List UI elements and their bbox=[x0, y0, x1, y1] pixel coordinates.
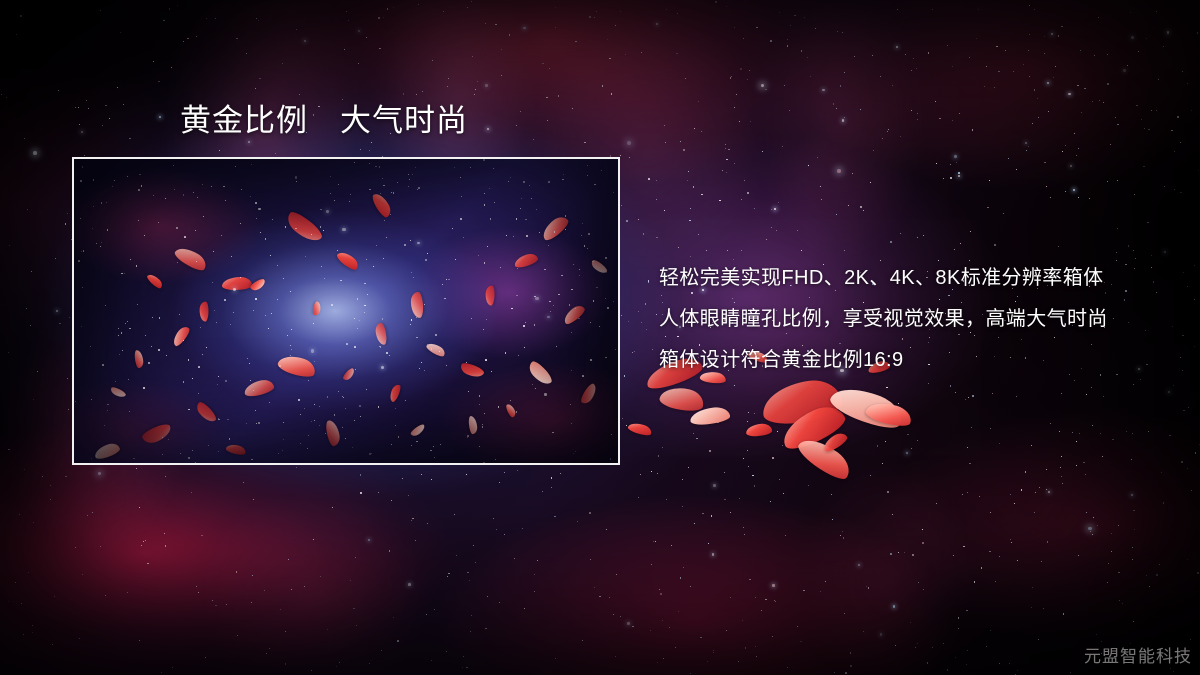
feature-line-3: 箱体设计符合黄金比例16:9 bbox=[659, 340, 1159, 381]
panel-nebula-image bbox=[74, 159, 618, 463]
led-display-panel bbox=[72, 157, 620, 465]
page-title: 黄金比例 大气时尚 bbox=[180, 102, 468, 141]
feature-description: 轻松完美实现FHD、2K、4K、8K标准分辨率箱体 人体眼睛瞳孔比例，享受视觉效… bbox=[659, 258, 1159, 381]
presentation-slide: 黄金比例 大气时尚 轻松完美实现FHD、2K、4K、8K标准分辨率箱体 人体眼睛… bbox=[0, 0, 1200, 675]
feature-line-2: 人体眼睛瞳孔比例，享受视觉效果，高端大气时尚 bbox=[659, 299, 1159, 340]
company-watermark: 元盟智能科技 bbox=[1084, 642, 1192, 667]
feature-line-1: 轻松完美实现FHD、2K、4K、8K标准分辨率箱体 bbox=[659, 258, 1159, 299]
